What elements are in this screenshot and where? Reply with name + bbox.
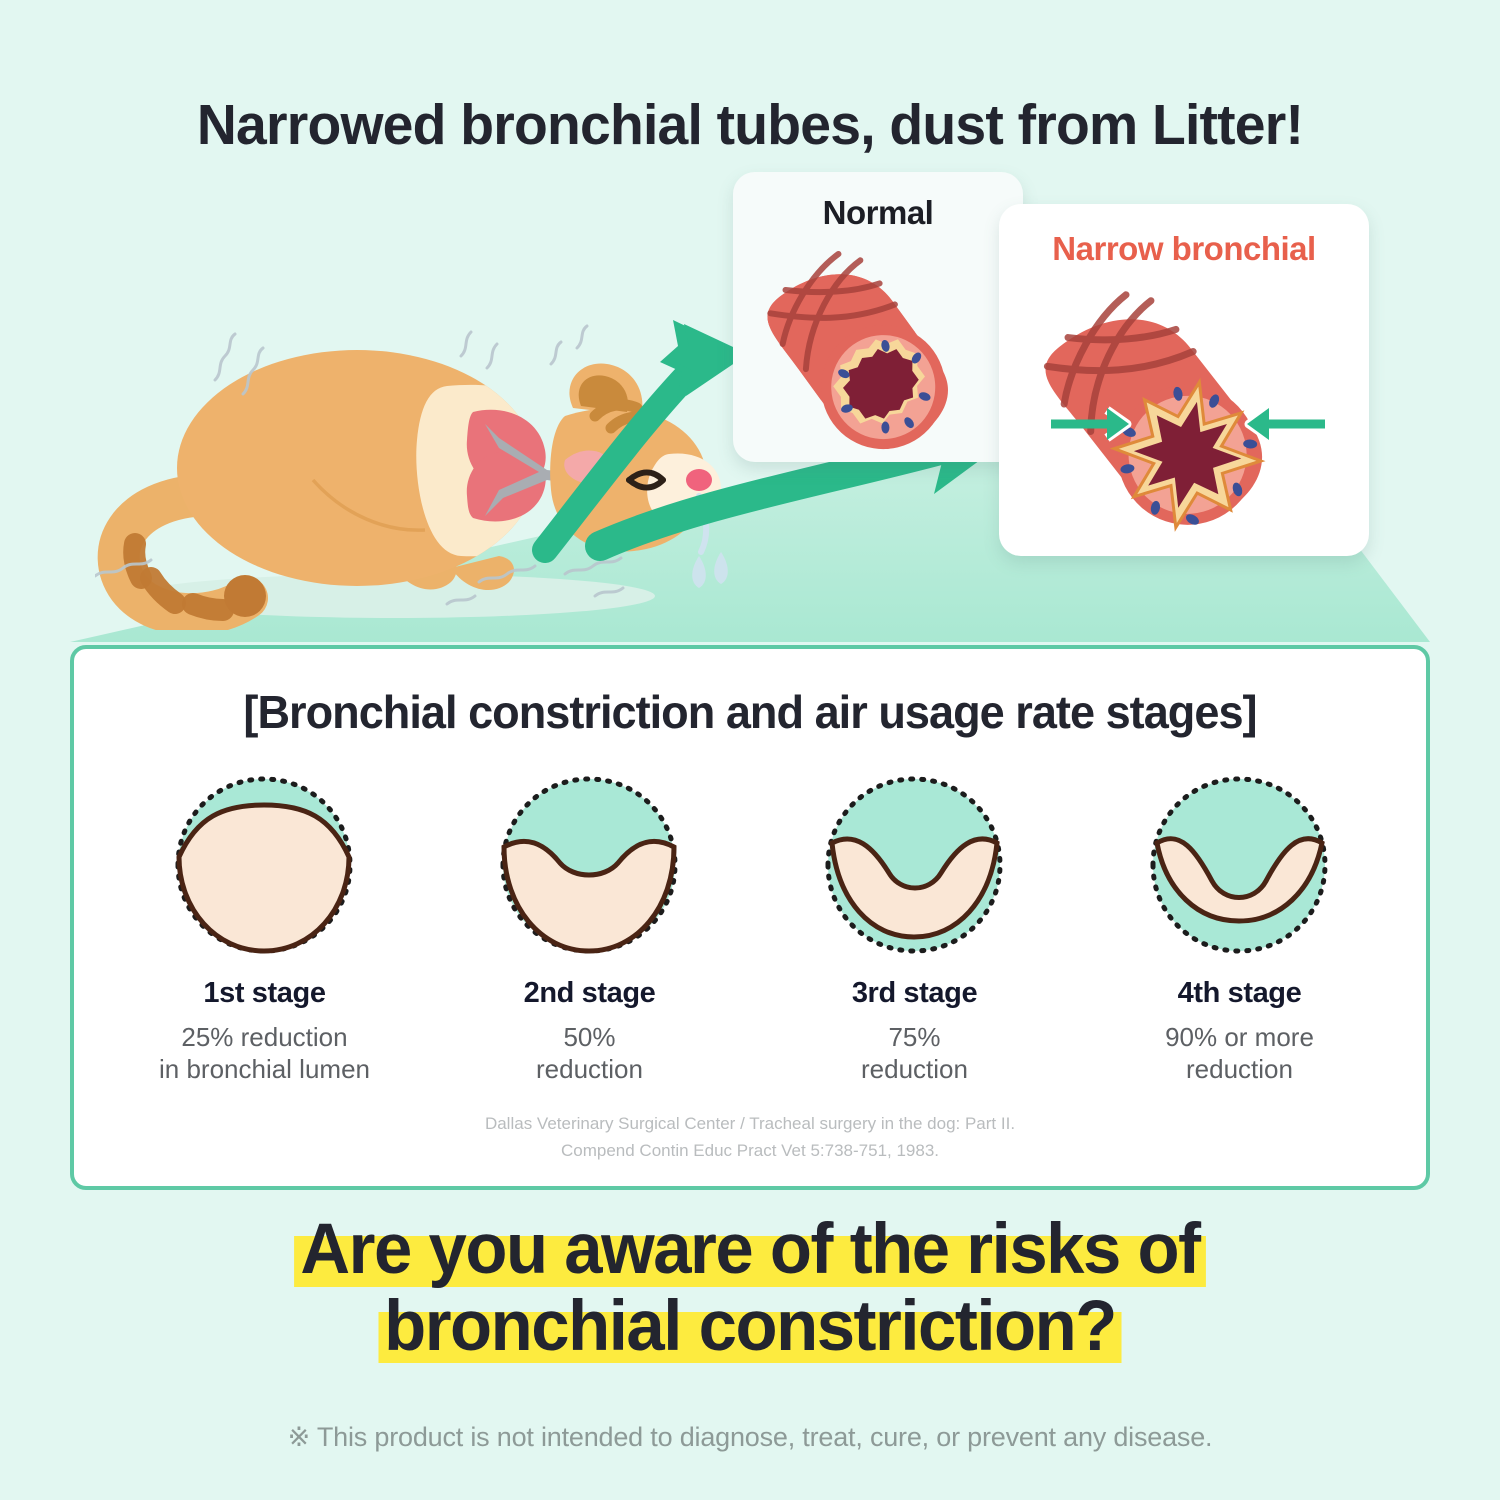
stage-1-desc: 25% reductionin bronchial lumen bbox=[115, 1021, 415, 1085]
citation: Dallas Veterinary Surgical Center / Trac… bbox=[74, 1111, 1426, 1164]
stages-panel-title: [Bronchial constriction and air usage ra… bbox=[88, 685, 1413, 739]
narrow-bronchial-card: Narrow bronchial bbox=[999, 204, 1369, 556]
stage-4-diagram bbox=[1132, 765, 1347, 965]
stage-2-name: 2nd stage bbox=[440, 977, 740, 1010]
stage-1-name: 1st stage bbox=[115, 977, 415, 1010]
infographic-canvas: Narrowed bronchial tubes, dust from Litt… bbox=[0, 0, 1500, 1500]
stage-item: 2nd stage 50%reduction bbox=[440, 765, 740, 1085]
stages-panel: [Bronchial constriction and air usage ra… bbox=[70, 645, 1430, 1190]
cta-line-2: bronchial constriction? bbox=[23, 1289, 1478, 1366]
cta-line-1-text: Are you aware of the risks of bbox=[295, 1212, 1206, 1289]
stage-3-diagram bbox=[807, 765, 1022, 965]
stage-4-desc: 90% or morereduction bbox=[1090, 1021, 1390, 1085]
stage-2-desc: 50%reduction bbox=[440, 1021, 740, 1085]
citation-line-2: Compend Contin Educ Pract Vet 5:738-751,… bbox=[74, 1138, 1426, 1164]
stage-item: 4th stage 90% or morereduction bbox=[1090, 765, 1390, 1085]
disclaimer-text: ※ This product is not intended to diagno… bbox=[0, 1422, 1500, 1453]
stage-item: 3rd stage 75%reduction bbox=[765, 765, 1065, 1085]
stage-4-name: 4th stage bbox=[1090, 977, 1390, 1010]
narrow-bronchial-tube-icon bbox=[1029, 262, 1347, 548]
stage-item: 1st stage 25% reductionin bronchial lume… bbox=[115, 765, 415, 1085]
cta-line-1: Are you aware of the risks of bbox=[23, 1212, 1478, 1289]
stage-2-diagram bbox=[482, 765, 697, 965]
cta-headline: Are you aware of the risks of bronchial … bbox=[0, 1212, 1500, 1365]
stage-3-desc: 75%reduction bbox=[765, 1021, 1065, 1085]
normal-bronchial-tube-icon bbox=[761, 224, 997, 450]
stages-list: 1st stage 25% reductionin bronchial lume… bbox=[102, 765, 1402, 1085]
cta-line-2-text: bronchial constriction? bbox=[378, 1289, 1121, 1366]
citation-line-1: Dallas Veterinary Surgical Center / Trac… bbox=[74, 1111, 1426, 1137]
normal-bronchial-card: Normal bbox=[733, 172, 1023, 462]
stage-1-diagram bbox=[157, 765, 372, 965]
page-title: Narrowed bronchial tubes, dust from Litt… bbox=[23, 92, 1478, 158]
stage-3-name: 3rd stage bbox=[765, 977, 1065, 1010]
